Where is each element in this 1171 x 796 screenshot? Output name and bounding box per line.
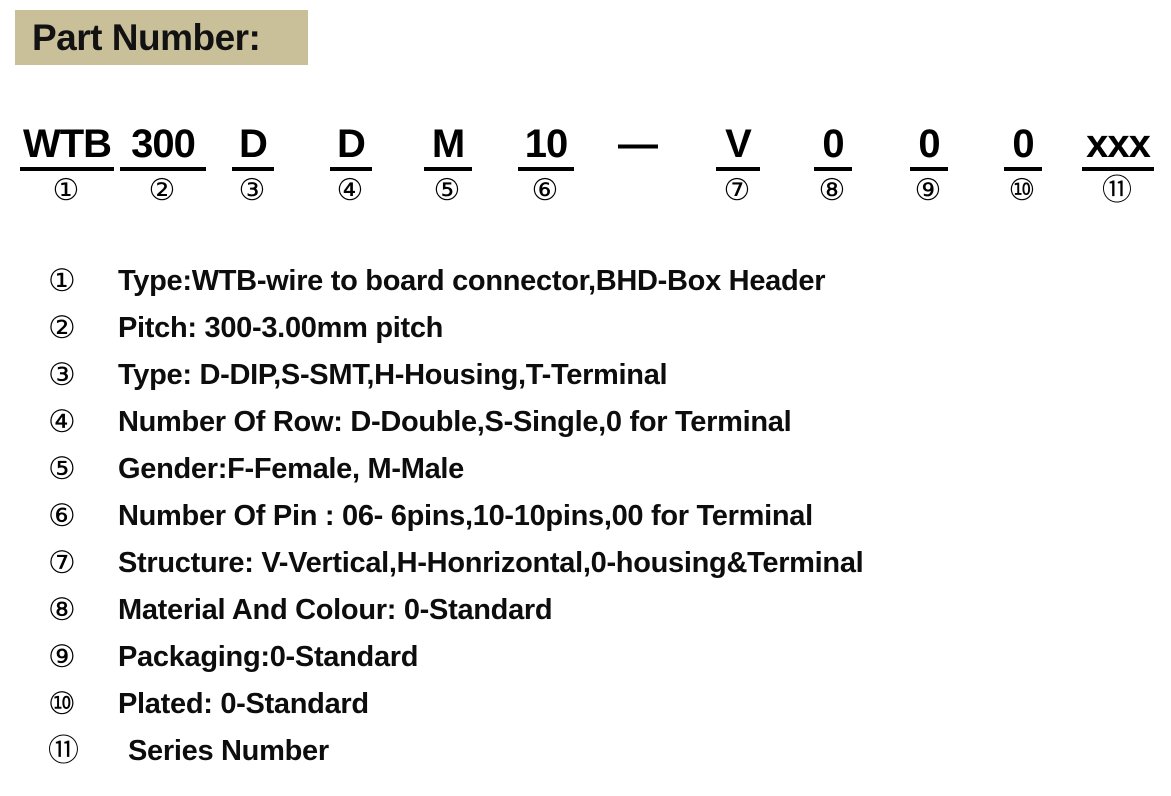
legend-marker-4: ④: [48, 399, 94, 446]
legend-text-5: Gender:F-Female, M-Male: [118, 446, 464, 493]
part-number-token-marker-10: ⑩: [1004, 174, 1040, 208]
part-number-token-marker-2: ②: [120, 174, 204, 208]
part-number-token-marker-3: ③: [232, 174, 272, 208]
part-number-separator-dash: —: [618, 122, 658, 166]
legend-row-11: ⑪Series Number: [0, 728, 1171, 775]
legend-text-6: Number Of Pin : 06- 6pins,10-10pins,00 f…: [118, 493, 813, 540]
legend-text-1: Type:WTB-wire to board connector,BHD-Box…: [118, 258, 825, 305]
legend-marker-1: ①: [48, 258, 94, 305]
part-number-token-marker-1: ①: [20, 174, 112, 208]
part-number-token-code-3: D: [232, 122, 274, 171]
part-number-token-code-6: 10: [518, 122, 574, 171]
part-number-token-marker-6: ⑥: [518, 174, 572, 208]
part-number-token-1: WTB①: [20, 122, 112, 208]
legend-row-1: ①Type:WTB-wire to board connector,BHD-Bo…: [0, 258, 1171, 305]
legend-marker-6: ⑥: [48, 493, 94, 540]
part-number-token-3: D③: [232, 122, 272, 208]
part-number-token-marker-4: ④: [330, 174, 370, 208]
legend-marker-2: ②: [48, 305, 94, 352]
part-number-token-marker-11: ⑪: [1082, 174, 1152, 208]
legend-row-9: ⑨Packaging:0-Standard: [0, 634, 1171, 681]
part-number-token-7: V⑦: [716, 122, 758, 208]
part-number-token-code-7: V: [716, 122, 760, 171]
part-number-token-code-4: D: [330, 122, 372, 171]
legend-text-7: Structure: V-Vertical,H-Honrizontal,0-ho…: [118, 540, 863, 587]
legend-row-2: ②Pitch: 300-3.00mm pitch: [0, 305, 1171, 352]
part-number-token-11: xxx⑪: [1082, 122, 1152, 208]
part-number-token-marker-9: ⑨: [910, 174, 946, 208]
legend-marker-9: ⑨: [48, 634, 94, 681]
legend-row-3: ③Type: D-DIP,S-SMT,H-Housing,T-Terminal: [0, 352, 1171, 399]
legend-text-8: Material And Colour: 0-Standard: [118, 587, 552, 634]
legend-row-4: ④Number Of Row: D-Double,S-Single,0 for …: [0, 399, 1171, 446]
page-title: Part Number:: [15, 19, 260, 56]
legend-row-10: ⑩Plated: 0-Standard: [0, 681, 1171, 728]
legend-row-5: ⑤Gender:F-Female, M-Male: [0, 446, 1171, 493]
legend-text-2: Pitch: 300-3.00mm pitch: [118, 305, 443, 352]
part-number-token-marker-5: ⑤: [424, 174, 470, 208]
part-number-token-code-11: xxx: [1082, 122, 1154, 171]
part-number-token-code-9: 0: [910, 122, 948, 171]
legend-row-6: ⑥Number Of Pin : 06- 6pins,10-10pins,00 …: [0, 493, 1171, 540]
part-number-code-row: —WTB①300②D③D④M⑤10⑥V⑦0⑧0⑨0⑩xxx⑪: [0, 122, 1171, 212]
legend-text-11: Series Number: [128, 728, 329, 775]
part-number-token-code-10: 0: [1004, 122, 1042, 171]
part-number-token-8: 0⑧: [814, 122, 850, 208]
legend-marker-7: ⑦: [48, 540, 94, 587]
part-number-header-band: Part Number:: [15, 10, 308, 65]
part-number-legend-list: ①Type:WTB-wire to board connector,BHD-Bo…: [0, 258, 1171, 775]
part-number-token-6: 10⑥: [518, 122, 572, 208]
part-number-token-10: 0⑩: [1004, 122, 1040, 208]
legend-row-8: ⑧Material And Colour: 0-Standard: [0, 587, 1171, 634]
legend-text-9: Packaging:0-Standard: [118, 634, 418, 681]
legend-text-10: Plated: 0-Standard: [118, 681, 369, 728]
legend-marker-8: ⑧: [48, 587, 94, 634]
part-number-token-marker-8: ⑧: [814, 174, 850, 208]
part-number-token-code-1: WTB: [20, 122, 114, 171]
legend-marker-5: ⑤: [48, 446, 94, 493]
part-number-token-code-5: M: [424, 122, 472, 171]
part-number-token-marker-7: ⑦: [716, 174, 758, 208]
legend-marker-3: ③: [48, 352, 94, 399]
part-number-token-code-2: 300: [120, 122, 206, 171]
legend-text-4: Number Of Row: D-Double,S-Single,0 for T…: [118, 399, 791, 446]
part-number-token-5: M⑤: [424, 122, 470, 208]
part-number-token-code-8: 0: [814, 122, 852, 171]
legend-marker-11: ⑪: [48, 728, 94, 775]
legend-row-7: ⑦Structure: V-Vertical,H-Honrizontal,0-h…: [0, 540, 1171, 587]
legend-text-3: Type: D-DIP,S-SMT,H-Housing,T-Terminal: [118, 352, 667, 399]
legend-marker-10: ⑩: [48, 681, 94, 728]
part-number-token-9: 0⑨: [910, 122, 946, 208]
part-number-token-4: D④: [330, 122, 370, 208]
part-number-token-2: 300②: [120, 122, 204, 208]
